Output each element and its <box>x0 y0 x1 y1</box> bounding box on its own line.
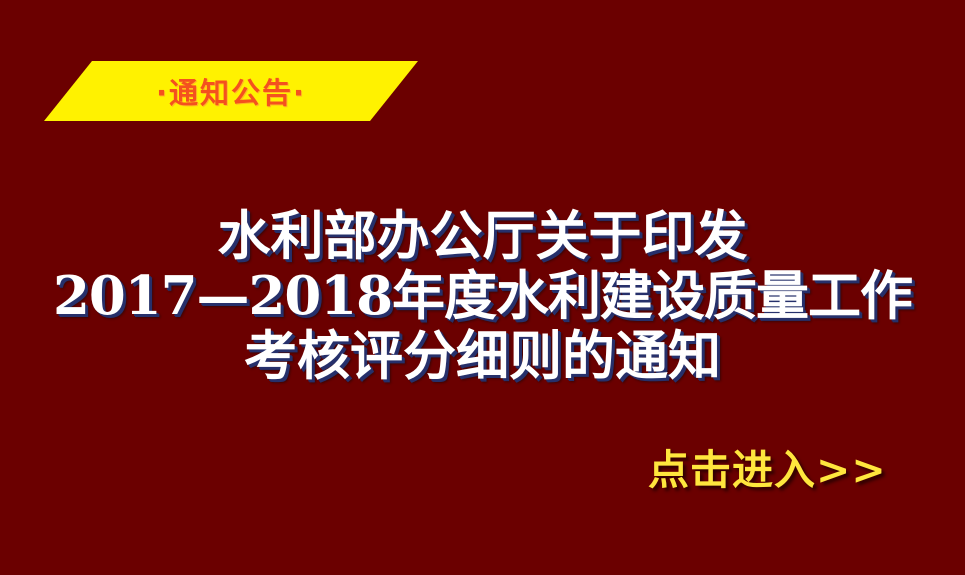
poster-canvas: ·通知公告· 水利部办公厅关于印发 2017—2018年度水利建设质量工作 考核… <box>0 0 965 575</box>
headline-line-3: 考核评分细则的通知 <box>0 326 965 386</box>
headline-line-2: 2017—2018年度水利建设质量工作 <box>0 266 965 326</box>
notice-banner-label: ·通知公告· <box>44 61 418 121</box>
headline-title: 水利部办公厅关于印发 2017—2018年度水利建设质量工作 考核评分细则的通知 <box>0 206 965 386</box>
enter-link[interactable]: 点击进入>> <box>648 436 887 496</box>
notice-banner: ·通知公告· <box>44 61 418 121</box>
headline-line-1: 水利部办公厅关于印发 <box>0 206 965 266</box>
